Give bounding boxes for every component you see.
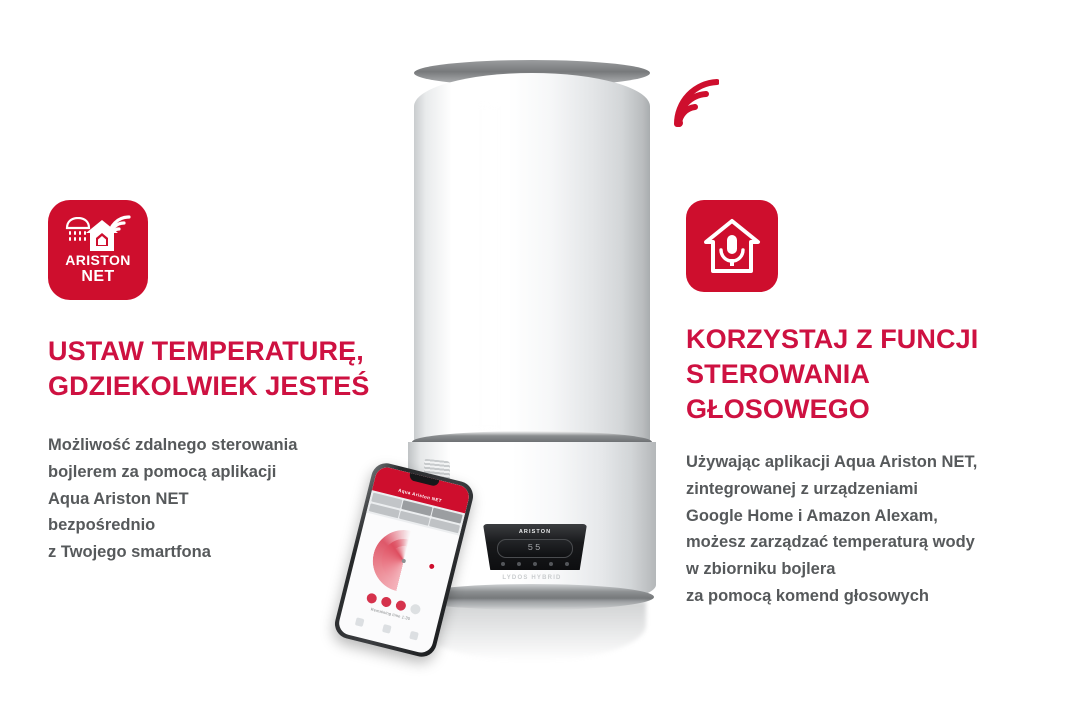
- feature-body-voice: Używając aplikacji Aqua Ariston NET, zin…: [686, 449, 1066, 609]
- panel-button[interactable]: [501, 562, 505, 566]
- heater-base-shadow: [418, 601, 646, 661]
- nav-item[interactable]: [355, 617, 365, 627]
- wifi-signal-icon: [673, 78, 719, 128]
- panel-brand-label: ARISTON: [483, 529, 587, 535]
- feature-title-remote: USTAW TEMPERATURĘ, GDZIEKOLWIEK JESTEŚ: [48, 334, 448, 404]
- house-microphone-icon: [703, 218, 761, 274]
- panel-button[interactable]: [533, 562, 537, 566]
- nav-item[interactable]: [409, 631, 419, 641]
- panel-button[interactable]: [549, 562, 553, 566]
- panel-button[interactable]: [517, 562, 521, 566]
- voice-control-home-badge[interactable]: [686, 200, 778, 292]
- mode-button[interactable]: [365, 592, 377, 604]
- ariston-net-app-badge[interactable]: ARISTON NET: [48, 200, 148, 300]
- feature-title-voice: KORZYSTAJ Z FUNCJI STEROWANIA GŁOSOWEGO: [686, 322, 1066, 427]
- mode-button[interactable]: [409, 603, 421, 615]
- badge-label-line2: NET: [48, 269, 148, 286]
- promo-banner: ARISTON NET USTAW TEMPERATURĘ, GDZIEKOLW…: [0, 0, 1080, 720]
- panel-temperature-readout: 55: [498, 543, 572, 553]
- house-icon: [84, 218, 120, 252]
- heater-control-panel[interactable]: ARISTON 55: [483, 524, 587, 570]
- nav-item[interactable]: [382, 624, 392, 634]
- panel-display: 55: [497, 539, 573, 558]
- badge-label-line1: ARISTON: [48, 253, 148, 268]
- heater-highlight: [454, 103, 498, 433]
- temperature-dial[interactable]: [366, 523, 441, 598]
- panel-touch-buttons[interactable]: [501, 562, 569, 566]
- mode-button[interactable]: [380, 596, 392, 608]
- badge-label: ARISTON NET: [48, 253, 148, 285]
- mode-button[interactable]: [394, 599, 406, 611]
- panel-button[interactable]: [565, 562, 569, 566]
- heater-upper-body: [414, 73, 650, 445]
- feature-block-voice-control: KORZYSTAJ Z FUNCJI STEROWANIA GŁOSOWEGO …: [686, 200, 1066, 610]
- dial-handle[interactable]: [428, 562, 436, 570]
